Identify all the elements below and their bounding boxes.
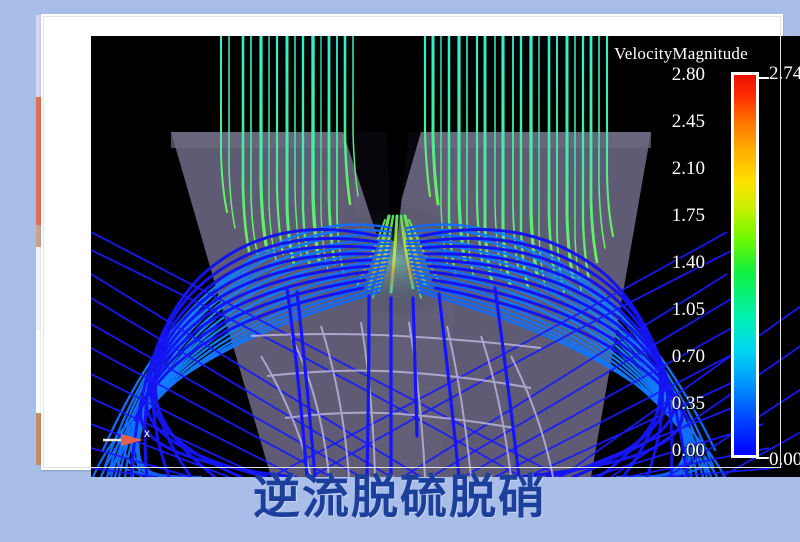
render-viewport: VelocityMagnitude 2.80 2.45 2.10 1.75 1.…	[91, 36, 800, 477]
axis-orientation-widget: x	[101, 426, 161, 454]
streamline-plot	[91, 36, 800, 477]
slide-canvas: VelocityMagnitude 2.80 2.45 2.10 1.75 1.…	[0, 0, 800, 542]
slide-caption: 逆流脱硫脱硝	[0, 474, 800, 521]
cfd-scene	[91, 36, 800, 477]
x-axis-arrow-icon	[101, 426, 161, 454]
axis-label-x: x	[144, 426, 150, 440]
visualization-frame: VelocityMagnitude 2.80 2.45 2.10 1.75 1.…	[41, 14, 783, 470]
